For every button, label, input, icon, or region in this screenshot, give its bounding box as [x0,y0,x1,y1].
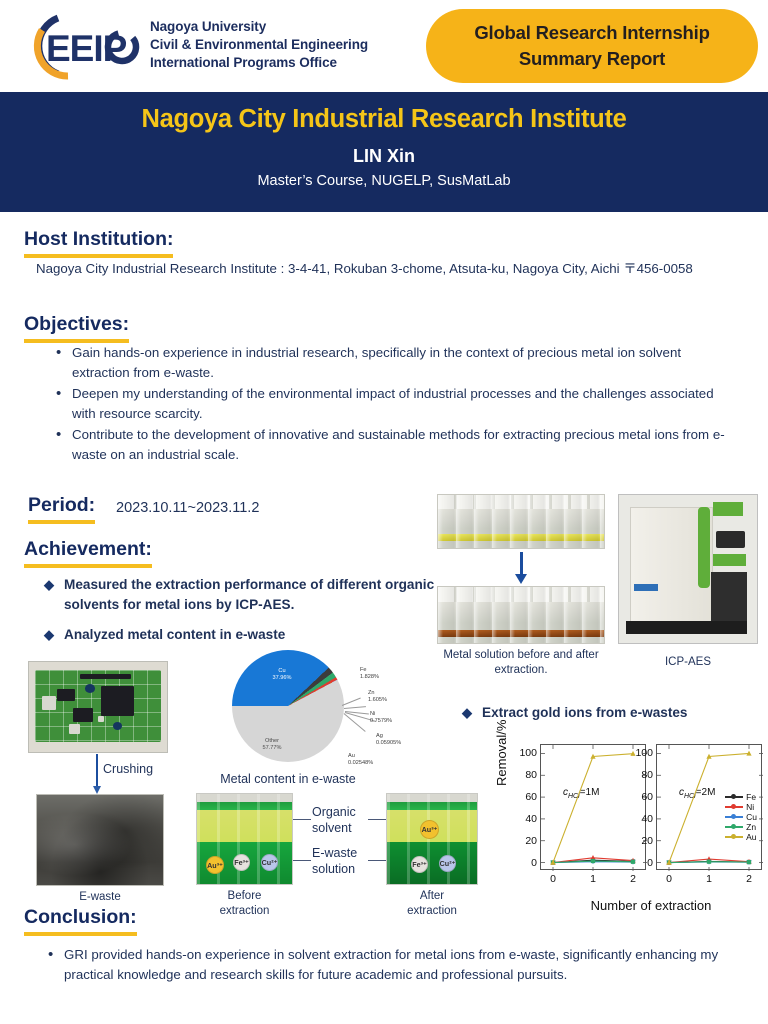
heading-objectives: Objectives: [24,313,129,343]
pcb-connector [80,674,131,680]
ewaste-solution-label: E-waste solution [312,846,357,877]
x-axis-tick-label: 2 [746,873,752,885]
chart-ylabel: Removal/% [494,720,509,786]
legend-label: Ni [746,803,754,812]
legend-swatch [725,836,743,838]
label-line-2: solvent [312,821,352,835]
vials-after-photo [437,586,605,644]
legend-swatch [725,826,743,828]
legend-marker [731,824,736,829]
legend-label: Zn [746,823,756,832]
conclusion-list: GRI provided hands-on experience in solv… [42,945,742,986]
poster-page: EEIP Nagoya University Civil & Environme… [0,0,768,1024]
caption-line-1: Before [228,890,262,902]
legend-swatch [725,806,743,808]
legend-label: Au [746,833,756,842]
pie-label-name: Fe [360,667,367,673]
before-extraction-caption: Before extraction [196,889,293,919]
period-value: 2023.10.11~2023.11.2 [116,500,259,516]
x-axis-tick-label: 0 [550,873,556,885]
organic-solvent-label: Organic solvent [312,805,356,836]
legend-item: Zn [725,823,757,832]
pie-label-value: 1.828% [360,674,379,680]
chart-plot-1m: cHCl=1M 020406080100012 [540,744,646,870]
org-line-2: Civil & Environmental Engineering [150,36,368,54]
caption-line-2: extraction [220,905,270,917]
icp-green-panel [698,507,710,588]
author-name: LIN Xin [0,146,768,167]
y-axis-tick-label: 40 [525,813,537,825]
legend-item: Fe [725,793,757,802]
ceeipo-logo-icon: EEIP [12,10,142,82]
pcb-board [35,670,162,742]
vial-glass-highlights [438,587,604,643]
pie-label-other: Other 57.77% [252,738,292,752]
institute-title: Nagoya City Industrial Research Institut… [0,105,768,134]
pcb-component [69,724,80,734]
report-type-badge: Global Research Internship Summary Repor… [426,9,758,83]
y-axis-tick-label: 100 [519,747,537,759]
pie-label-name: Au [348,753,355,759]
vial-glass-highlights [438,495,604,548]
list-item: Contribute to the development of innovat… [50,425,740,465]
pcb-chip [101,686,134,716]
ewaste-powder-photo [36,794,164,886]
pie-leader-au [344,713,366,732]
pie-label-value: 0.7579% [370,718,392,724]
y-axis-tick-label: 40 [641,813,653,825]
ion-badge-fe: Fe³⁺ [233,854,250,871]
legend-label: Cu [746,813,757,822]
heading-period: Period: [28,494,95,524]
caption-line-2: extraction [407,905,457,917]
list-item: Gain hands-on experience in industrial r… [50,343,740,383]
pcb-port [42,696,56,710]
beaker-glass-highlight [387,794,477,884]
y-axis-tick-label: 100 [635,747,653,759]
caption-line-1: After [420,890,444,902]
heading-achievement: Achievement: [24,538,152,568]
heading-host-institution: Host Institution: [24,228,173,258]
ion-badge-fe: Fe³⁺ [411,856,428,873]
pcb-chip [73,708,93,722]
icp-base [626,621,747,634]
icp-dark-module [711,572,747,622]
legend-item: Ni [725,803,757,812]
legend-marker [731,814,736,819]
pie-label-au: Au 0.02548% [348,753,396,767]
x-axis-tick-label: 1 [590,873,596,885]
ion-badge-cu: Cu²⁺ [439,855,456,872]
list-item: Measured the extraction performance of d… [42,575,442,616]
heading-conclusion: Conclusion: [24,906,137,936]
icp-green-panel [713,502,743,515]
list-item: Deepen my understanding of the environme… [50,384,740,424]
legend-marker [731,804,736,809]
beaker-after-extraction: Au³⁺ Fe³⁺ Cu²⁺ [386,793,478,885]
icp-green-panel [713,554,746,566]
y-axis-tick-label: 20 [641,835,653,847]
after-extraction-caption: After extraction [386,889,478,919]
label-line-1: Organic [312,805,356,819]
icp-aes-caption: ICP-AES [618,655,758,670]
pie-label-value: 1.605% [368,697,387,703]
vials-before-photo [437,494,605,549]
pcb-capacitor [113,722,122,730]
icp-blue-sticker [634,584,657,591]
legend-swatch [725,796,743,798]
chart-svg-1m [541,745,647,871]
removal-line-charts: Removal/% cHCl=1M 020406080100012 cHCl=2… [498,738,764,926]
leader-organic-left [293,819,311,820]
chart-plot-2m: cHCl=2M FeNiCuZnAu 020406080100012 [656,744,762,870]
pie-label-name: Ag [376,733,383,739]
ion-badge-au: Au³⁺ [206,856,224,874]
x-axis-tick-label: 0 [666,873,672,885]
achievement-list: Measured the extraction performance of d… [42,575,442,654]
objectives-list: Gain hands-on experience in industrial r… [50,343,740,466]
y-axis-tick-label: 0 [647,857,653,869]
pcb-component [98,716,104,722]
crushing-label: Crushing [103,762,153,778]
legend-marker [731,834,736,839]
author-affiliation: Master’s Course, NUGELP, SusMatLab [0,173,768,189]
beaker-before-extraction: Au³⁺ Fe³⁺ Cu²⁺ [196,793,293,885]
y-axis-tick-label: 0 [531,857,537,869]
icp-display-screen [716,531,745,549]
badge-line-1: Global Research Internship [474,20,709,46]
y-axis-tick-label: 20 [525,835,537,847]
y-axis-tick-label: 60 [641,791,653,803]
y-axis-tick-label: 80 [525,769,537,781]
list-item: Analyzed metal content in e-waste [42,625,442,645]
icp-aes-photo [618,494,758,644]
list-item: GRI provided hands-on experience in solv… [42,945,742,985]
org-line-3: International Programs Office [150,54,368,72]
ion-badge-au: Au³⁺ [420,820,439,839]
header-bar: EEIP Nagoya University Civil & Environme… [0,0,768,92]
legend-label: Fe [746,793,756,802]
pie-label-value: 0.05905% [376,740,401,746]
pcb-photo [28,661,168,753]
x-axis-tick-label: 2 [630,873,636,885]
x-axis-tick-label: 1 [706,873,712,885]
ewaste-caption: E-waste [36,890,164,905]
process-arrow-shaft [520,552,523,576]
pcb-chip [57,689,75,701]
pie-label-name: Zn [368,690,375,696]
chart-legend: FeNiCuZnAu [725,793,757,843]
pie-chart-title: Metal content in e-waste [194,772,382,786]
leader-organic-right [368,819,386,820]
leader-ewaste-left [293,860,311,861]
legend-item: Au [725,833,757,842]
pie-label-name: Other [265,738,279,744]
crushing-arrow-shaft [96,754,98,788]
label-line-1: E-waste [312,846,357,860]
pie-label-name: Cu [278,668,285,674]
pie-label-value: 37.96% [273,675,292,681]
title-band: Nagoya City Industrial Research Institut… [0,92,768,212]
legend-swatch [725,816,743,818]
chart-xlabel: Number of extraction [540,898,762,913]
pie-label-ag: Ag 0.05905% [376,733,424,747]
legend-item: Cu [725,813,757,822]
legend-marker [731,794,736,799]
pie-label-value: 57.77% [263,745,282,751]
pie-label-zn: Zn 1.605% [368,690,410,704]
badge-line-2: Summary Report [519,46,665,72]
pie-leader-fe [342,698,361,706]
organization-name: Nagoya University Civil & Environmental … [150,18,368,71]
y-axis-tick-label: 80 [641,769,653,781]
ion-badge-cu: Cu²⁺ [261,854,278,871]
process-arrow-head-icon [515,574,527,584]
vials-caption: Metal solution before and after extracti… [437,648,605,678]
crushing-arrow-head-icon [93,786,101,794]
leader-ewaste-right [368,860,386,861]
pie-label-value: 0.02548% [348,760,373,766]
pie-label-fe: Fe 1.828% [360,667,400,681]
pie-label-cu: Cu 37.96% [262,668,302,682]
host-institution-text: Nagoya City Industrial Research Institut… [36,259,748,280]
label-line-2: solution [312,862,355,876]
pie-label-name: Ni [370,711,375,717]
pie-label-ni: Ni 0.7579% [370,711,414,725]
pie-leader-zn [344,706,366,709]
org-line-1: Nagoya University [150,18,368,36]
y-axis-tick-label: 60 [525,791,537,803]
